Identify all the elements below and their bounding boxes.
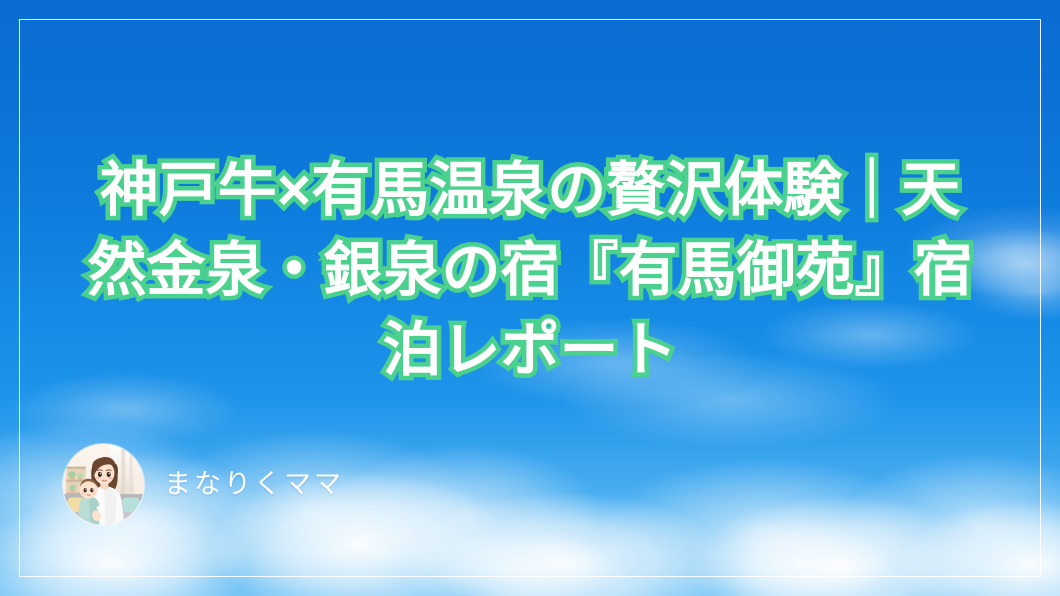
cloud-bank-right-b: [690, 496, 990, 596]
page-title: 神戸牛×有馬温泉の贅沢体験｜天然金泉・銀泉の宿『有馬御苑』宿泊レポート: [0, 150, 1060, 390]
author-row[interactable]: まなりくママ: [63, 444, 344, 525]
cloud-bank-right-c: [840, 452, 1060, 596]
cloud-bank-center-c: [330, 444, 600, 584]
cloud-bank-right-a: [600, 458, 930, 596]
thumbnail-card: 神戸牛×有馬温泉の贅沢体験｜天然金泉・銀泉の宿『有馬御苑』宿泊レポート: [0, 0, 1060, 596]
author-name: まなりくママ: [164, 471, 344, 498]
cloud-bank-right-d: [900, 500, 1060, 596]
mother-and-baby-avatar-icon[interactable]: [63, 444, 144, 525]
cloud-bank-center-d: [400, 492, 730, 596]
title-block: 神戸牛×有馬温泉の贅沢体験｜天然金泉・銀泉の宿『有馬御苑』宿泊レポート: [0, 150, 1060, 390]
cloud-small-bottom-left: [430, 528, 610, 596]
cloud-small-bottom-center: [700, 520, 890, 596]
